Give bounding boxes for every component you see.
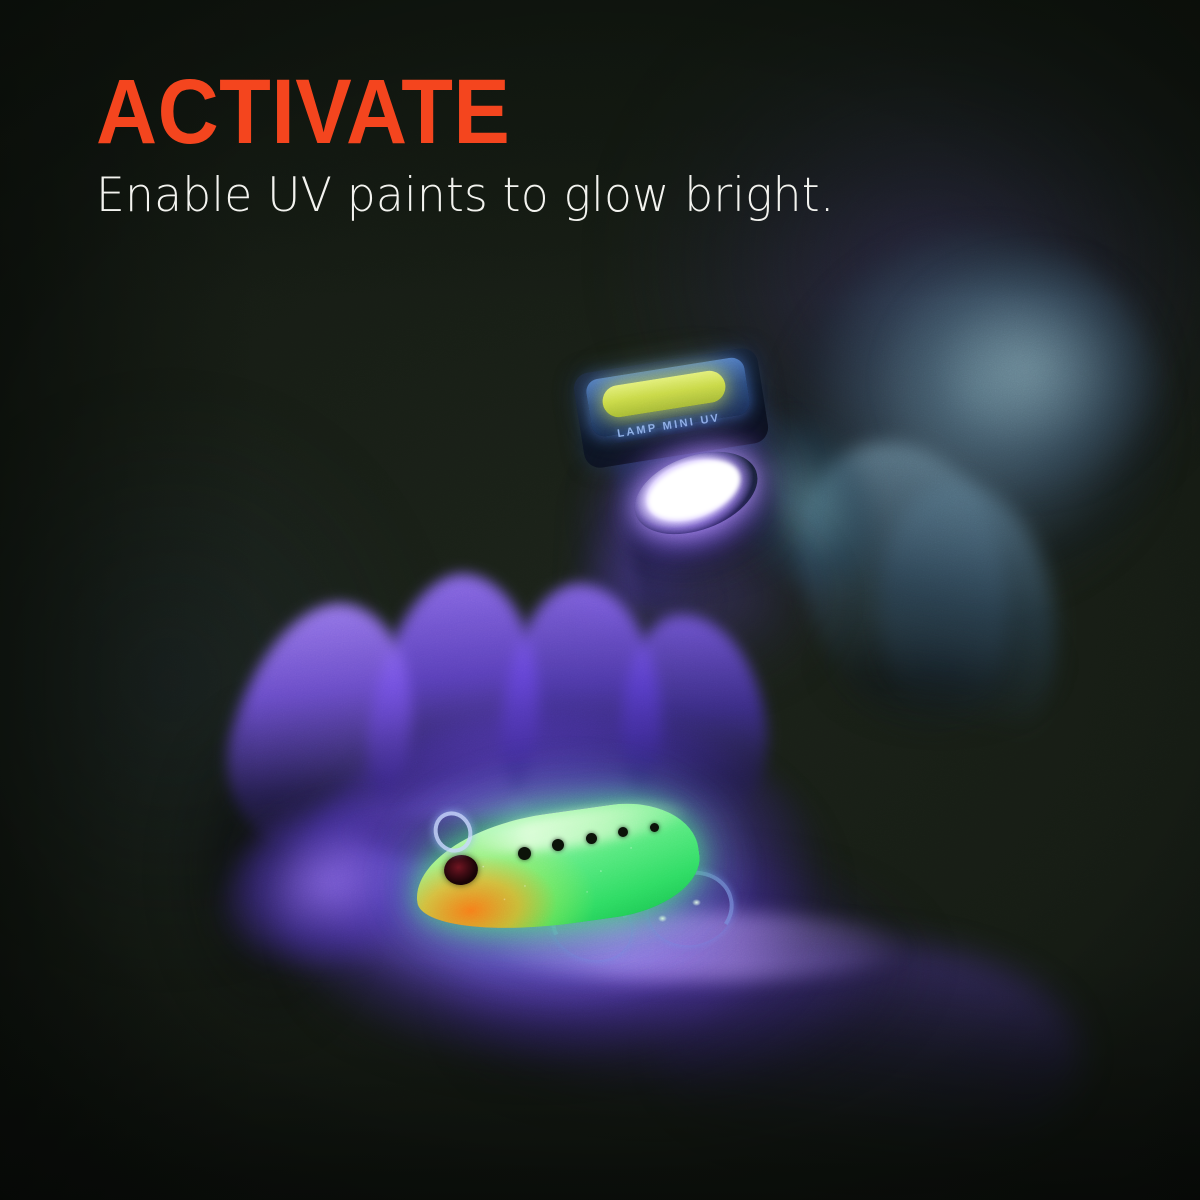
promo-scene: LAMP MINI UV — [0, 0, 1200, 1200]
page-subtitle: Enable UV paints to glow bright. — [96, 171, 1076, 221]
page-title: ACTIVATE — [96, 70, 1025, 155]
copy-block: ACTIVATE Enable UV paints to glow bright… — [96, 70, 1106, 220]
